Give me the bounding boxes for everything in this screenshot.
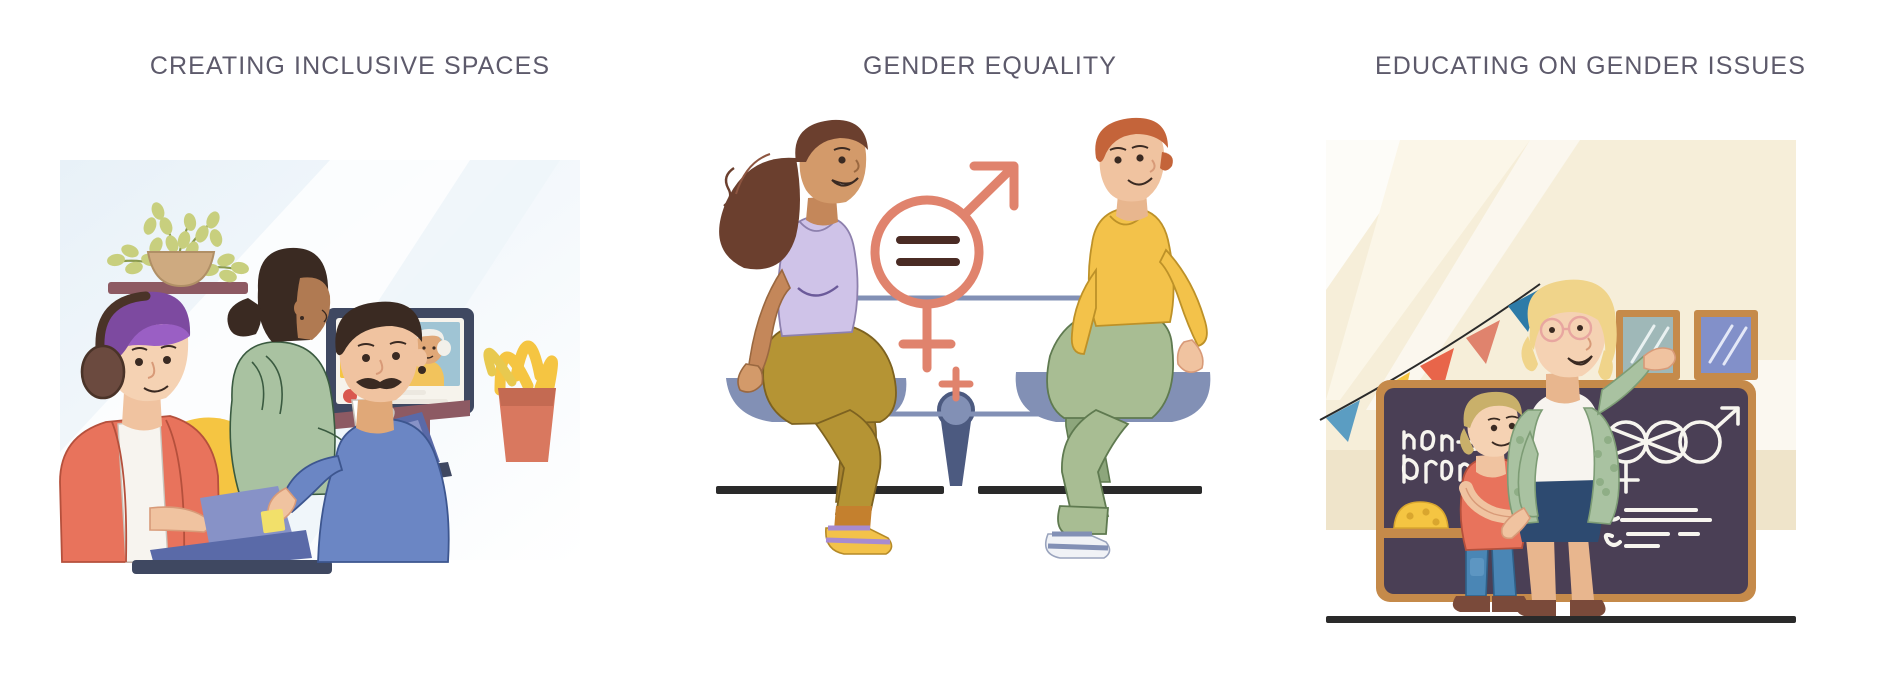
gender-equality-symbol	[875, 166, 1014, 368]
pocket	[1470, 558, 1484, 576]
illustration-creating-inclusive-spaces	[0, 110, 700, 590]
shoe-right	[1046, 534, 1110, 558]
shoe-left	[826, 528, 892, 554]
hair-volume	[719, 158, 800, 270]
picture-frame-right	[1694, 310, 1758, 380]
seesaw-pivot	[939, 393, 973, 486]
panel-title-3: EDUCATING ON GENDER ISSUES	[1280, 52, 1901, 81]
equals-sign	[900, 240, 956, 262]
illustration-educating-on-gender-issues	[1280, 110, 1901, 590]
male-arrow-shaft	[964, 168, 1012, 215]
illustration-set: CREATING INCLUSIVE SPACES	[0, 0, 1901, 700]
panel-gender-equality: GENDER EQUALITY	[700, 0, 1280, 700]
seesaw-plank	[716, 486, 1202, 494]
panel-creating-inclusive-spaces: CREATING INCLUSIVE SPACES	[0, 0, 700, 700]
floor-line	[1326, 616, 1796, 623]
illustration-gender-equality	[700, 110, 1280, 590]
panel-title-1: CREATING INCLUSIVE SPACES	[0, 52, 700, 81]
sticky-note	[261, 509, 286, 534]
panel-educating-on-gender-issues: EDUCATING ON GENDER ISSUES	[1280, 0, 1901, 700]
panel-title-2: GENDER EQUALITY	[700, 52, 1280, 81]
